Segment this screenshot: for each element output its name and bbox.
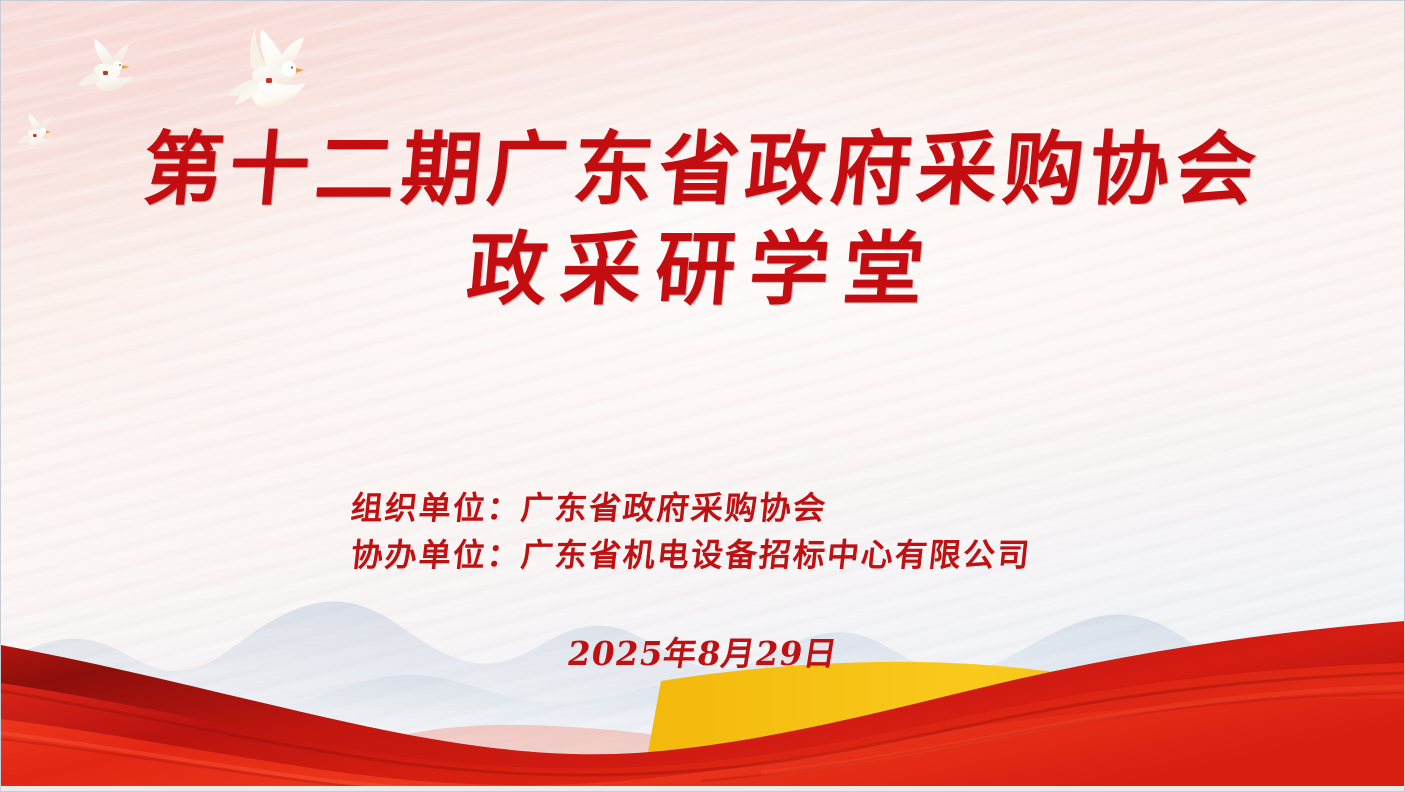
event-date: 2025年8月29日 (0, 632, 1405, 676)
organizer-block: 组织单位：广东省政府采购协会 协办单位：广东省机电设备招标中心有限公司 (351, 485, 1031, 579)
title-slide: 第十二期广东省政府采购协会 政采研学堂 组织单位：广东省政府采购协会 协办单位：… (0, 0, 1405, 792)
slide-title: 第十二期广东省政府采购协会 政采研学堂 (1, 119, 1404, 319)
organizer-line: 组织单位：广东省政府采购协会 (349, 485, 1034, 532)
slide-bottom-edge (1, 786, 1404, 791)
title-line-2: 政采研学堂 (0, 219, 1405, 319)
title-line-1: 第十二期广东省政府采购协会 (0, 119, 1405, 219)
co-organizer-line: 协办单位：广东省机电设备招标中心有限公司 (349, 532, 1034, 579)
dove-icon-large (206, 25, 324, 121)
dove-icon-medium (73, 39, 153, 103)
